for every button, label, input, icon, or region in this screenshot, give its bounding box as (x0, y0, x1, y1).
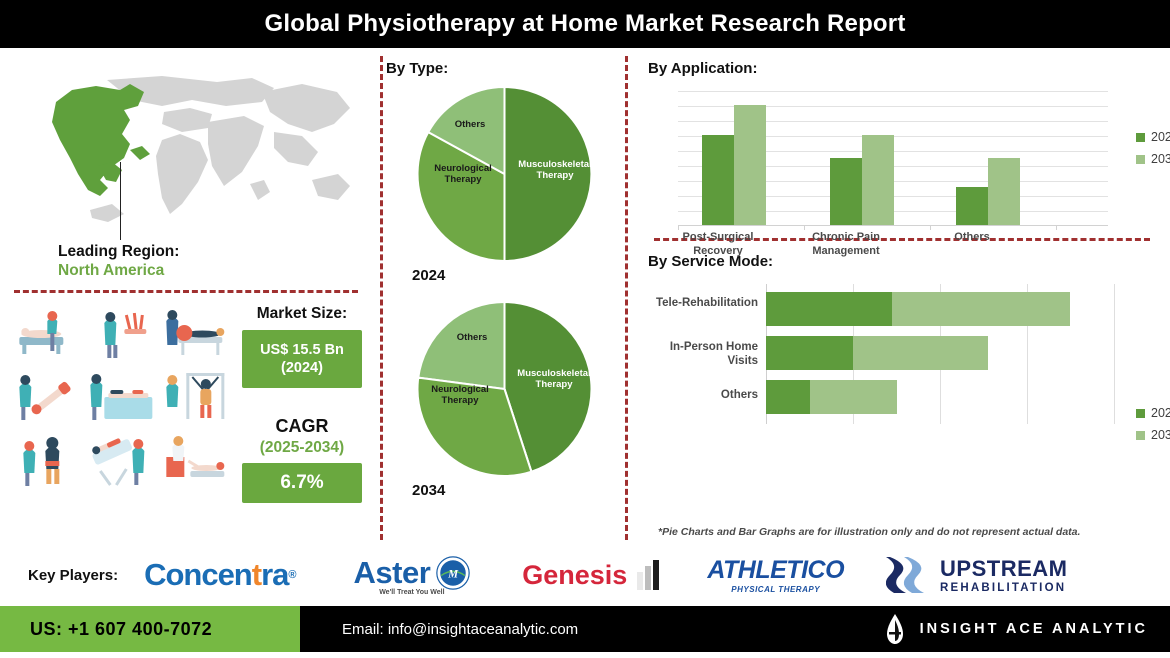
hbar-others-2024 (766, 380, 810, 414)
logo-concentra[interactable]: Concentra® (144, 557, 295, 593)
hbar-in-person-2024 (766, 336, 853, 370)
leading-region-value: North America (58, 262, 372, 280)
footer-brand: INSIGHT ACE ANALYTIC (884, 606, 1170, 652)
hbar-category-others: Others (638, 388, 758, 402)
bar-chronic-pain-2034 (862, 135, 894, 225)
pie-chart-2024: Musculoskeletal Therapy Neurological The… (402, 83, 607, 265)
brand-logo-icon (884, 614, 906, 644)
logo-genesis[interactable]: Genesis (522, 558, 667, 592)
legend-label-2034: 2034 (1151, 152, 1170, 166)
legend-swatch-2034-icon (1136, 155, 1145, 164)
logo-upstream-text: UPSTREAM (940, 556, 1067, 582)
pie-2024-year: 2024 (412, 267, 634, 284)
bar-group-others (956, 158, 1020, 225)
illustration-exercise-ball-icon (159, 303, 232, 365)
hbar-in-person-2034 (853, 336, 988, 370)
logo-athletico-text: ATHLETICO (707, 556, 844, 585)
pie-2024-label-neurological: Neurological Therapy (424, 163, 502, 185)
bar-chart-service-mode: Tele-Rehabilitation In-Person Home Visit… (766, 284, 1116, 424)
market-metrics: Market Size: US$ 15.5 Bn (2024) CAGR (20… (232, 303, 372, 503)
hbar-tele-rehabilitation (766, 292, 1070, 326)
logo-athletico[interactable]: ATHLETICO PHYSICAL THERAPY (707, 556, 844, 594)
market-size-year: (2024) (281, 359, 323, 377)
legend-swatch-2024-service-icon (1136, 409, 1145, 418)
bar-post-surgical-2034 (734, 105, 766, 225)
divider-right-of-pies (625, 56, 628, 540)
cagr-years: (2025-2034) (232, 439, 372, 457)
logo-concentra-text: Concentra (144, 557, 288, 593)
upstream-wave-icon (886, 553, 932, 597)
pie-2034-year: 2034 (412, 482, 634, 499)
pie-2034-label-musculoskeletal: Musculoskeletal Therapy (516, 368, 592, 390)
charts-footnote: *Pie Charts and Bar Graphs are for illus… (658, 526, 1080, 538)
hbar-others-2034 (810, 380, 897, 414)
aster-badge-icon: M (436, 556, 470, 590)
illustration-leg-stretch-icon (10, 367, 83, 429)
legend-item-2024: 2024 (1136, 130, 1170, 144)
logo-aster-text: Aster (354, 555, 431, 591)
left-panel: Leading Region: North America (0, 48, 372, 544)
legend-item-2024-service: 2024 (1136, 406, 1170, 420)
svg-text:M: M (448, 568, 460, 580)
hbar-category-tele: Tele-Rehabilitation (638, 296, 758, 310)
registered-mark-icon: ® (288, 569, 295, 581)
left-lower-panel: Market Size: US$ 15.5 Bn (2024) CAGR (20… (0, 303, 372, 503)
bar-chart-application: Post-Surgical Recovery Chronic Pain Mana… (678, 91, 1108, 226)
market-size-box: US$ 15.5 Bn (2024) (242, 330, 362, 388)
leading-region-label: Leading Region: (58, 243, 372, 261)
bar-others-2024 (956, 187, 988, 225)
logo-genesis-text: Genesis (522, 560, 627, 591)
world-map-svg (12, 62, 362, 237)
hbar-category-in-person: In-Person Home Visits (638, 340, 758, 369)
content-area: Leading Region: North America (0, 48, 1170, 544)
hbar-others (766, 380, 897, 414)
cagr-title: CAGR (232, 416, 372, 437)
illustration-posture-check-icon (10, 431, 83, 493)
cagr-box: 6.7% (242, 463, 362, 503)
logo-upstream[interactable]: UPSTREAM REHABILITATION (886, 553, 1067, 597)
bar-category-post-surgical: Post-Surgical Recovery (663, 231, 773, 259)
by-application-title: By Application: (648, 60, 1170, 77)
footer-phone[interactable]: US: +1 607 400-7072 (0, 606, 300, 652)
legend-swatch-2024-icon (1136, 133, 1145, 142)
physiotherapy-illustrations (0, 303, 232, 503)
page-footer: US: +1 607 400-7072 Email: info@insighta… (0, 606, 1170, 652)
map-north-america-highlight (52, 84, 150, 196)
logo-upstream-sub: REHABILITATION (940, 582, 1067, 594)
bar-category-chronic-pain: Chronic Pain Management (791, 231, 901, 259)
hbar-in-person-home-visits (766, 336, 988, 370)
world-map (12, 62, 362, 237)
right-panel: By Application: (634, 48, 1170, 544)
illustration-therapy-tools-icon (85, 303, 158, 365)
left-divider (14, 290, 358, 293)
legend-label-2024-service: 2024 (1151, 406, 1170, 420)
pie-2034-label-neurological: Neurological Therapy (420, 384, 500, 406)
logo-athletico-sub: PHYSICAL THERAPY (707, 585, 844, 594)
legend-application: 2024 2034 (1136, 130, 1170, 174)
legend-item-2034: 2034 (1136, 152, 1170, 166)
logo-aster[interactable]: Aster M We'll Treat You Well (354, 555, 471, 596)
hbar-tele-2034 (892, 292, 1070, 326)
pie-2024-label-musculoskeletal: Musculoskeletal Therapy (518, 159, 592, 181)
market-size-value: US$ 15.5 Bn (260, 341, 344, 359)
page-header: Global Physiotherapy at Home Market Rese… (0, 0, 1170, 48)
pie-chart-2034: Musculoskeletal Therapy Neurological The… (402, 298, 607, 480)
illustration-tilt-table-icon (85, 431, 158, 493)
illustration-suspension-frame-icon (159, 367, 232, 429)
by-type-title: By Type: (386, 60, 634, 77)
pie-2024-label-others: Others (444, 119, 496, 130)
bar-post-surgical-2024 (702, 135, 734, 225)
bar-group-post-surgical (702, 105, 766, 225)
map-leader-line (120, 162, 121, 240)
footer-email[interactable]: Email: info@insightaceanalytic.com (300, 606, 884, 652)
key-players-bar: Key Players: Concentra® Aster M We'll Tr… (0, 544, 1170, 606)
cagr-value: 6.7% (280, 471, 323, 495)
by-type-panel: By Type: Musculoskeletal Therapy Neurolo… (372, 48, 634, 544)
illustration-hydrotherapy-icon (85, 367, 158, 429)
leading-region-block: Leading Region: North America (58, 243, 372, 280)
legend-label-2034-service: 2034 (1151, 428, 1170, 442)
key-players-label: Key Players: (28, 567, 118, 584)
legend-service-mode: 2024 2034 (1136, 406, 1170, 450)
legend-item-2034-service: 2034 (1136, 428, 1170, 442)
illustration-seated-consult-icon (159, 431, 232, 493)
pie-2034-label-others: Others (446, 332, 498, 343)
divider-left-of-pies (380, 56, 383, 540)
bar-chronic-pain-2024 (830, 158, 862, 225)
footer-brand-name: INSIGHT ACE ANALYTIC (920, 621, 1148, 637)
bar-group-chronic-pain (830, 135, 894, 225)
legend-label-2024: 2024 (1151, 130, 1170, 144)
genesis-bars-icon (633, 558, 667, 592)
legend-swatch-2034-service-icon (1136, 431, 1145, 440)
illustration-massage-table-icon (10, 303, 83, 365)
page-title: Global Physiotherapy at Home Market Rese… (264, 10, 905, 38)
market-size-title: Market Size: (232, 305, 372, 323)
bar-others-2034 (988, 158, 1020, 225)
hbar-tele-2024 (766, 292, 892, 326)
bar-category-others: Others (917, 231, 1027, 245)
concentra-cross-icon: t (252, 557, 261, 592)
